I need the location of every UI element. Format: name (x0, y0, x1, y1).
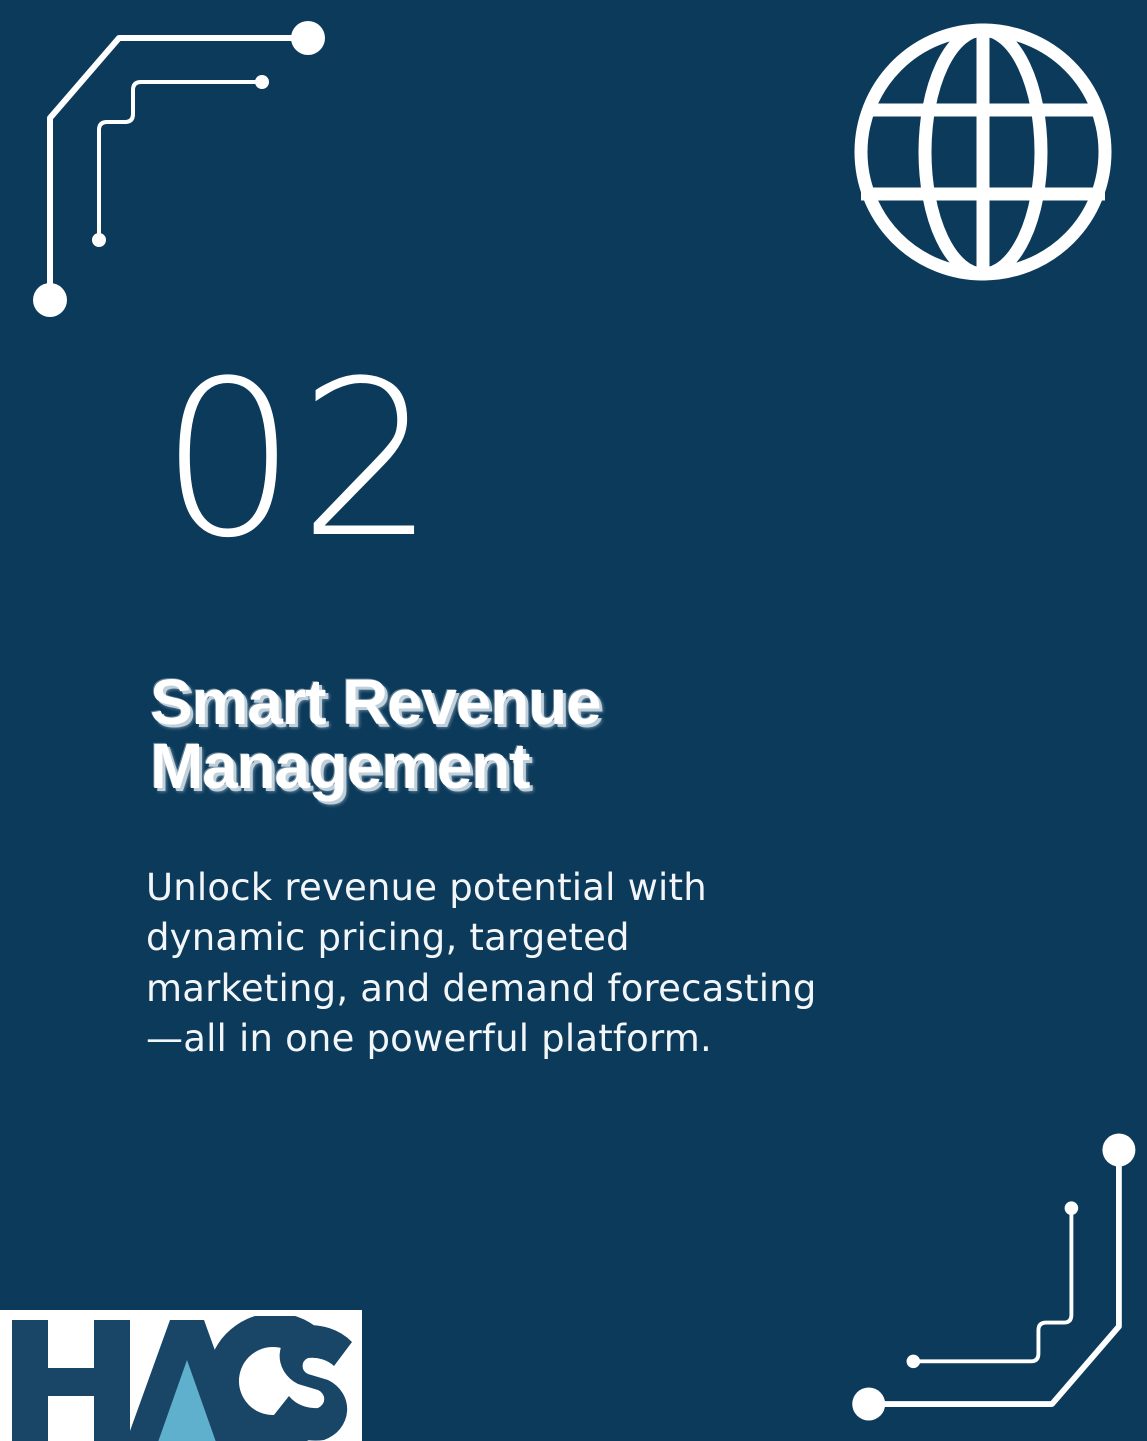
page-title: Smart Revenue Management (150, 670, 810, 798)
body-copy-line-4: —all in one powerful platform. (146, 1014, 876, 1064)
body-copy-line-2: dynamic pricing, targeted (146, 913, 876, 963)
step-number: 02 (160, 352, 438, 567)
body-copy: Unlock revenue potential with dynamic pr… (146, 863, 876, 1064)
page-title-line-2: Management (150, 734, 810, 798)
circuit-trace-icon-bottom-right (828, 1112, 1147, 1441)
hacs-logo-icon (8, 1316, 354, 1441)
globe-icon (849, 18, 1117, 286)
body-copy-line-3: marketing, and demand forecasting (146, 964, 876, 1014)
logo-plate (0, 1310, 362, 1441)
slide-canvas: 02 Smart Revenue Management Unlock reven… (0, 0, 1147, 1441)
body-copy-line-1: Unlock revenue potential with (146, 863, 876, 913)
circuit-trace-icon-top-left (20, 8, 350, 330)
page-title-line-1: Smart Revenue (150, 670, 810, 734)
